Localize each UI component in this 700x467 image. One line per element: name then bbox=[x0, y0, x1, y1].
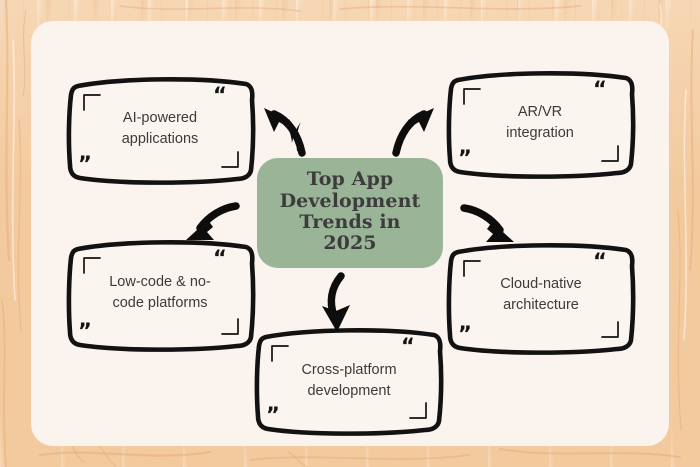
node-label-low-code-no-code-platforms: Low-code & no- code platforms bbox=[82, 262, 238, 324]
node-label-ar-vr-integration: AR/VR integration bbox=[464, 92, 616, 154]
node-label-cross-platform-development: Cross-platform development bbox=[272, 350, 426, 412]
node-label-ai-powered-applications: AI-powered applications bbox=[84, 98, 236, 160]
center-node-label: Top App Development Trends in 2025 bbox=[280, 169, 421, 255]
center-node: Top App Development Trends in 2025 bbox=[257, 158, 443, 268]
node-label-cloud-native-architecture: Cloud-native architecture bbox=[464, 264, 618, 326]
infographic-canvas: “ ” “ ” “ ” “ ” bbox=[0, 0, 700, 467]
